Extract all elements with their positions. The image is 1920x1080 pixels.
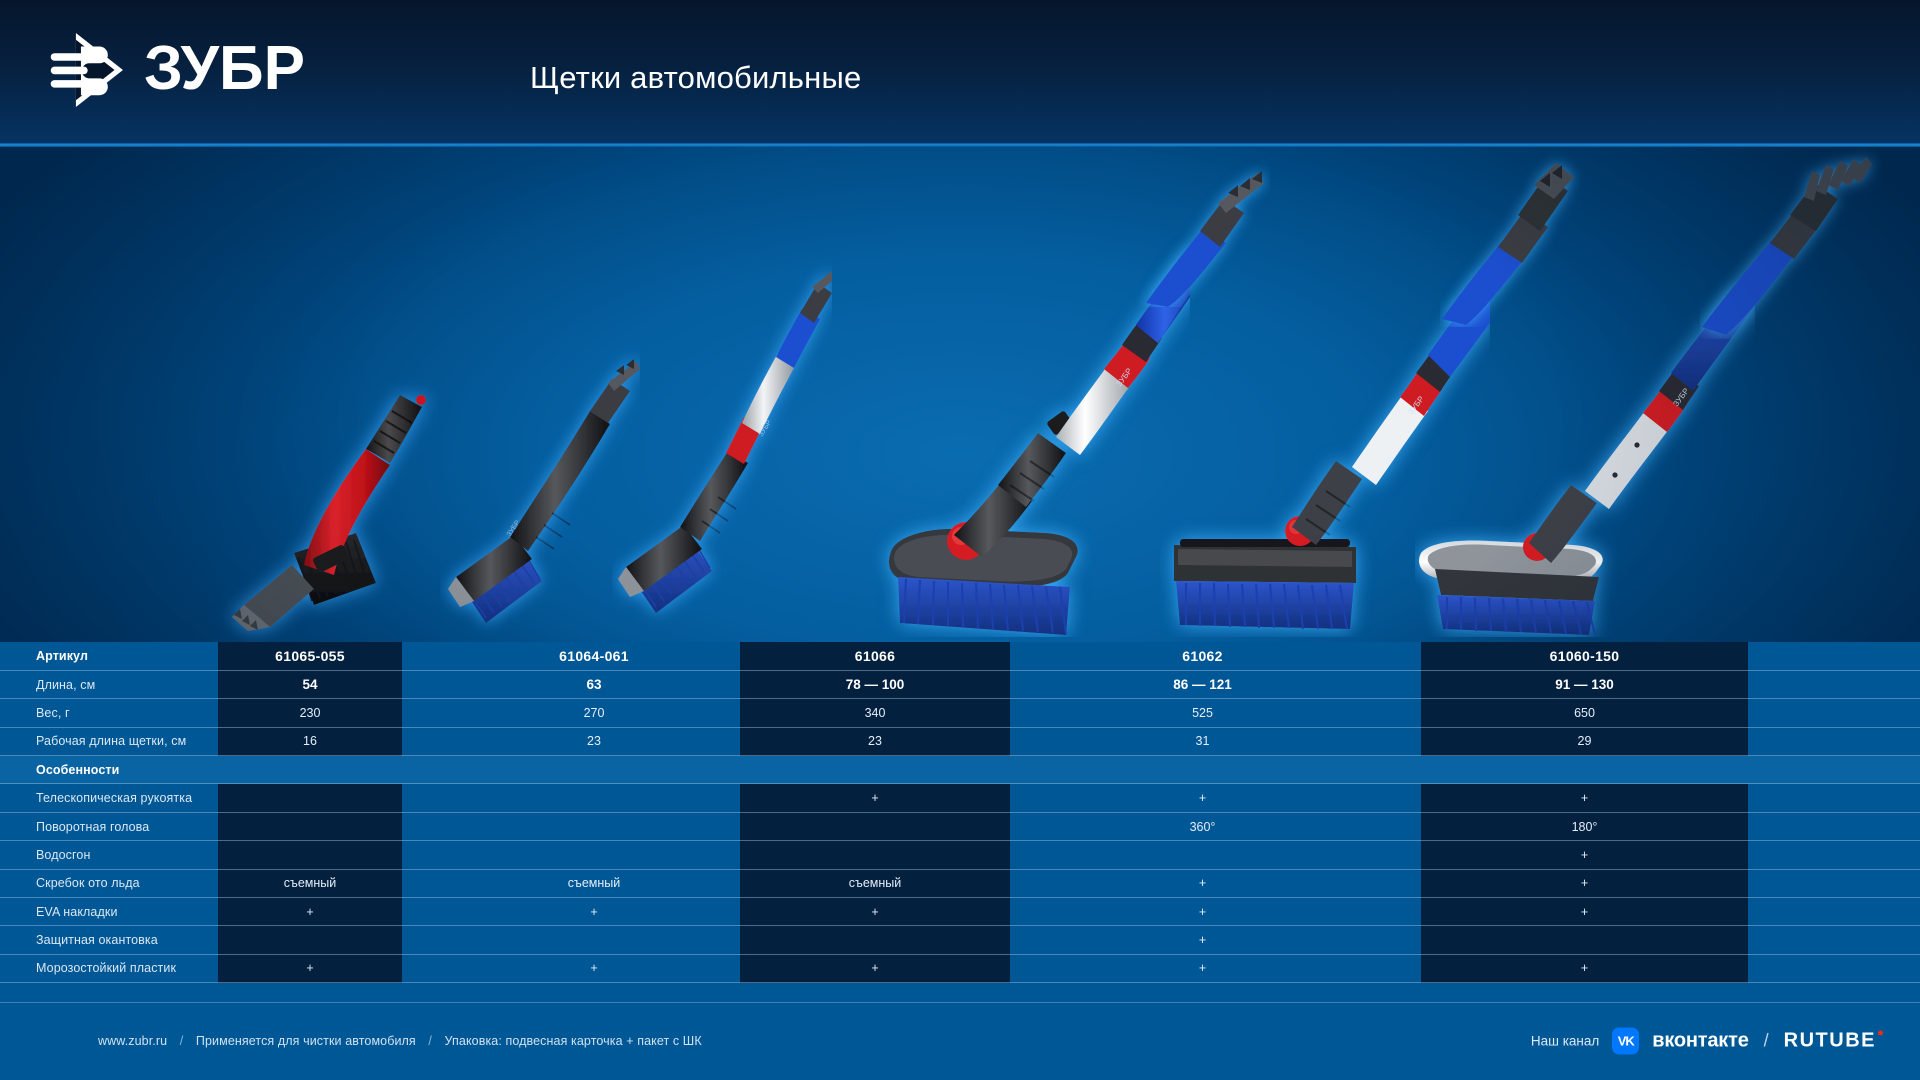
table-row: Длина, см546378 — 10086 — 12191 — 13094 …: [0, 670, 1920, 698]
table-row: Артикул61065-05561064-061610666106261060…: [0, 642, 1920, 670]
cell-61064-061: [502, 756, 686, 784]
table-row: Защитная окантовка++: [0, 926, 1920, 954]
cell-spacer: [402, 898, 502, 926]
cell-spacer: [402, 926, 502, 954]
cell-61065-055: [218, 756, 402, 784]
cell-spacer: [1010, 670, 1110, 698]
cell-spacer: [686, 784, 740, 812]
cell-61062: [1110, 841, 1295, 869]
cell-spacer: [686, 926, 740, 954]
product-image-61065-055[interactable]: [208, 337, 438, 642]
cell-spacer: [402, 869, 502, 897]
page-header: ЗУБР Щетки автомобильные: [0, 0, 1920, 143]
cell-61063: +: [1808, 841, 1920, 869]
cell-61065-055: 54: [218, 670, 402, 698]
table-row: Морозостойкий пластик++++++: [0, 954, 1920, 982]
cell-61062: 525: [1110, 699, 1295, 727]
row-label: Поворотная голова: [0, 812, 218, 840]
cell-61060-150: +: [1421, 841, 1748, 869]
footer-separator-1: /: [171, 1034, 193, 1048]
table-row: EVA накладки++++++: [0, 898, 1920, 926]
footer-usage-text: Применяется для чистки автомобиля: [196, 1034, 416, 1048]
cell-spacer: [1295, 784, 1421, 812]
cell-spacer: [402, 642, 502, 670]
cell-61066: 23: [740, 727, 1010, 755]
cell-spacer: [1748, 727, 1808, 755]
table-row: Скребок ото льдасъемныйсъемныйсъемный+++: [0, 869, 1920, 897]
cell-spacer: [1295, 926, 1421, 954]
cell-spacer: [1010, 784, 1110, 812]
cell-spacer: [1010, 812, 1110, 840]
cell-61063: 180°: [1808, 812, 1920, 840]
cell-61065-055: 230: [218, 699, 402, 727]
cell-spacer: [1748, 699, 1808, 727]
cell-61064-061: +: [502, 954, 686, 982]
cell-spacer: [1295, 869, 1421, 897]
svg-text:ЗУБР: ЗУБР: [144, 40, 305, 100]
cell-spacer: [1010, 926, 1110, 954]
cell-61063: +: [1808, 784, 1920, 812]
cell-spacer: [1748, 784, 1808, 812]
cell-61063: +: [1808, 898, 1920, 926]
cell-61062: +: [1110, 898, 1295, 926]
cell-spacer: [1748, 869, 1808, 897]
cell-61063: 27: [1808, 727, 1920, 755]
cell-spacer: [686, 841, 740, 869]
cell-spacer: [686, 699, 740, 727]
cell-61065-055: [218, 812, 402, 840]
cell-spacer: [1748, 926, 1808, 954]
cell-spacer: [1010, 898, 1110, 926]
row-label: EVA накладки: [0, 898, 218, 926]
rutube-dot-icon: [1878, 1031, 1883, 1036]
our-channel-label: Наш канал: [1531, 1034, 1599, 1049]
cell-61064-061: 63: [502, 670, 686, 698]
cell-61063: +: [1808, 926, 1920, 954]
cell-61065-055: 16: [218, 727, 402, 755]
cell-spacer: [1010, 727, 1110, 755]
row-label: Защитная окантовка: [0, 926, 218, 954]
cell-61060-150: [1421, 756, 1748, 784]
cell-spacer: [1748, 812, 1808, 840]
cell-61060-150: +: [1421, 869, 1748, 897]
cell-spacer: [402, 954, 502, 982]
product-image-61066[interactable]: ЗУБР: [612, 257, 832, 642]
cell-spacer: [1295, 727, 1421, 755]
cell-61062: +: [1110, 926, 1295, 954]
cell-spacer: [1295, 642, 1421, 670]
cell-61060-150: +: [1421, 898, 1748, 926]
cell-61060-150: 29: [1421, 727, 1748, 755]
cell-spacer: [686, 869, 740, 897]
cell-61060-150: 180°: [1421, 812, 1748, 840]
cell-spacer: [1010, 869, 1110, 897]
cell-spacer: [402, 699, 502, 727]
table-row: Вес, г230270340525650650: [0, 699, 1920, 727]
cell-61063: +: [1808, 954, 1920, 982]
cell-spacer: [1748, 898, 1808, 926]
cell-61066: съемный: [740, 869, 1010, 897]
cell-spacer: [1010, 699, 1110, 727]
row-label: Вес, г: [0, 699, 218, 727]
cell-61065-055: +: [218, 954, 402, 982]
cell-61063: 61063: [1808, 642, 1920, 670]
cell-61065-055: +: [218, 898, 402, 926]
cell-61063: +: [1808, 869, 1920, 897]
row-label: Рабочая длина щетки, см: [0, 727, 218, 755]
footer-separator-2: /: [419, 1034, 441, 1048]
cell-61066: 78 — 100: [740, 670, 1010, 698]
cell-61064-061: 61064-061: [502, 642, 686, 670]
cell-spacer: [686, 642, 740, 670]
cell-61065-055: [218, 926, 402, 954]
footer-divider: [0, 1002, 1920, 1003]
cell-spacer: [1010, 756, 1110, 784]
table-row: Поворотная голова360°180°180°: [0, 812, 1920, 840]
cell-spacer: [1010, 954, 1110, 982]
cell-61065-055: съемный: [218, 869, 402, 897]
cell-61066: [740, 812, 1010, 840]
cell-61066: +: [740, 898, 1010, 926]
cell-61064-061: [502, 784, 686, 812]
cell-spacer: [1295, 699, 1421, 727]
cell-spacer: [686, 756, 740, 784]
cell-spacer: [1295, 841, 1421, 869]
row-label: Длина, см: [0, 670, 218, 698]
cell-61066: +: [740, 954, 1010, 982]
cell-spacer: [1748, 841, 1808, 869]
cell-spacer: [402, 670, 502, 698]
cell-61065-055: 61065-055: [218, 642, 402, 670]
cell-61062: 360°: [1110, 812, 1295, 840]
row-label: Особенности: [0, 756, 218, 784]
rutube-label[interactable]: RUTUBE: [1784, 1030, 1876, 1053]
cell-61062: 86 — 121: [1110, 670, 1295, 698]
specification-table-wrapper: Артикул61065-05561064-061610666106261060…: [0, 642, 1920, 1002]
cell-61062: +: [1110, 954, 1295, 982]
table-section-row: Особенности: [0, 756, 1920, 784]
cell-spacer: [1295, 898, 1421, 926]
row-label: Водосгон: [0, 841, 218, 869]
cell-61060-150: +: [1421, 784, 1748, 812]
brand-logo[interactable]: ЗУБР: [44, 28, 444, 112]
table-row: Телескопическая рукоятка++++: [0, 784, 1920, 812]
cell-spacer: [402, 812, 502, 840]
product-image-61063-top: [1700, 147, 1920, 339]
footer-site-link[interactable]: www.zubr.ru: [98, 1034, 167, 1048]
cell-spacer: [686, 954, 740, 982]
cell-61066: +: [740, 784, 1010, 812]
cell-spacer: [1010, 841, 1110, 869]
cell-61063: 94 — 131: [1808, 670, 1920, 698]
cell-61066: [740, 841, 1010, 869]
cell-61062: 61062: [1110, 642, 1295, 670]
cell-spacer: [1295, 670, 1421, 698]
cell-61064-061: съемный: [502, 869, 686, 897]
footer-info: www.zubr.ru / Применяется для чистки авт…: [98, 1034, 702, 1048]
cell-spacer: [402, 727, 502, 755]
cell-spacer: [1748, 670, 1808, 698]
cell-spacer: [1748, 756, 1808, 784]
table-row: Рабочая длина щетки, см162323312927: [0, 727, 1920, 755]
product-image-61064-061[interactable]: ЗУБР: [440, 287, 640, 642]
cell-61060-150: 91 — 130: [1421, 670, 1748, 698]
cell-61062: +: [1110, 784, 1295, 812]
cell-61060-150: [1421, 926, 1748, 954]
page-title: Щетки автомобильные: [530, 60, 861, 96]
cell-spacer: [402, 756, 502, 784]
cell-61066: 340: [740, 699, 1010, 727]
vk-icon[interactable]: VK: [1612, 1028, 1639, 1055]
cell-61065-055: [218, 841, 402, 869]
cell-61062: [1110, 756, 1295, 784]
row-label: Скребок ото льда: [0, 869, 218, 897]
page-footer: www.zubr.ru / Применяется для чистки авт…: [0, 1002, 1920, 1080]
cell-61064-061: [502, 812, 686, 840]
table-row: Водосгон++: [0, 841, 1920, 869]
cell-spacer: [1010, 642, 1110, 670]
cell-61064-061: +: [502, 898, 686, 926]
cell-spacer: [1295, 756, 1421, 784]
cell-61060-150: 61060-150: [1421, 642, 1748, 670]
cell-61060-150: 650: [1421, 699, 1748, 727]
brand-wordmark: ЗУБР: [144, 40, 444, 100]
social-channels: Наш канал VK вконтакте / RUTUBE: [1531, 1028, 1876, 1055]
cell-spacer: [1295, 954, 1421, 982]
zubr-bison-arrow-logo-icon: [44, 28, 128, 112]
cell-61066: [740, 926, 1010, 954]
cell-61062: +: [1110, 869, 1295, 897]
cell-spacer: [402, 784, 502, 812]
row-label: Морозостойкий пластик: [0, 954, 218, 982]
row-label: Телескопическая рукоятка: [0, 784, 218, 812]
channel-separator: /: [1762, 1031, 1771, 1052]
product-showcase: ЗУБР: [0, 147, 1920, 642]
cell-61060-150: +: [1421, 954, 1748, 982]
cell-61064-061: 23: [502, 727, 686, 755]
cell-61066: [740, 756, 1010, 784]
cell-61062: 31: [1110, 727, 1295, 755]
cell-spacer: [402, 841, 502, 869]
cell-61066: 61066: [740, 642, 1010, 670]
cell-spacer: [1748, 954, 1808, 982]
cell-61063: [1808, 756, 1920, 784]
cell-spacer: [1295, 812, 1421, 840]
cell-61065-055: [218, 784, 402, 812]
cell-61064-061: 270: [502, 699, 686, 727]
specification-table: Артикул61065-05561064-061610666106261060…: [0, 642, 1920, 983]
cell-spacer: [686, 898, 740, 926]
row-label: Артикул: [0, 642, 218, 670]
vk-label[interactable]: вконтакте: [1652, 1030, 1748, 1053]
footer-packaging-text: Упаковка: подвесная карточка + пакет с Ш…: [445, 1034, 702, 1048]
cell-61063: 650: [1808, 699, 1920, 727]
cell-61064-061: [502, 841, 686, 869]
cell-61064-061: [502, 926, 686, 954]
cell-spacer: [686, 812, 740, 840]
rutube-text: RUTUBE: [1784, 1030, 1876, 1052]
cell-spacer: [686, 727, 740, 755]
cell-spacer: [686, 670, 740, 698]
cell-spacer: [1748, 642, 1808, 670]
